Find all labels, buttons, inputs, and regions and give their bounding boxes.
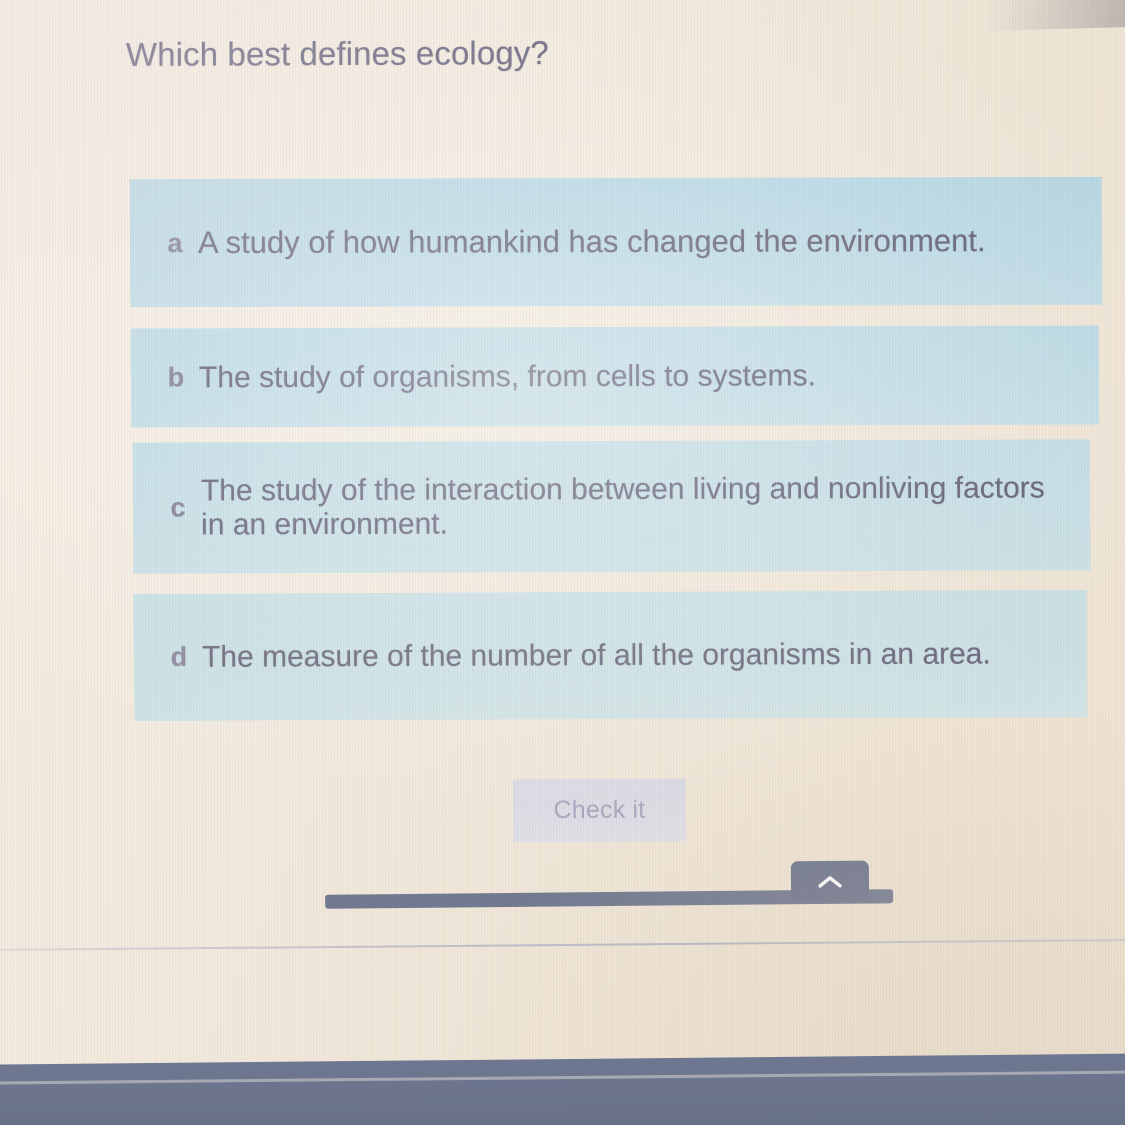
- page-title: Which best defines ecology?: [126, 34, 549, 74]
- answer-option-d[interactable]: d The measure of the number of all the o…: [134, 590, 1088, 721]
- answer-option-a[interactable]: a A study of how humankind has changed t…: [130, 177, 1103, 307]
- quiz-screen: Which best defines ecology? a A study of…: [0, 0, 1125, 1125]
- monitor-bottom-bezel: [0, 1053, 1125, 1125]
- answer-option-c-letter: c: [155, 492, 201, 523]
- answer-option-a-text: A study of how humankind has changed the…: [198, 223, 1102, 260]
- answer-option-b[interactable]: b The study of organisms, from cells to …: [131, 325, 1100, 427]
- check-it-button[interactable]: Check it: [513, 779, 686, 843]
- answer-option-c-text: The study of the interaction between liv…: [201, 471, 1090, 542]
- answer-option-d-text: The measure of the number of all the org…: [202, 637, 1087, 675]
- photographed-screen: Which best defines ecology? a A study of…: [0, 0, 1125, 1125]
- answer-option-b-text: The study of organisms, from cells to sy…: [199, 358, 1099, 395]
- answer-option-c[interactable]: c The study of the interaction between l…: [133, 439, 1091, 573]
- answer-option-b-letter: b: [153, 362, 199, 393]
- answer-option-a-letter: a: [152, 228, 198, 259]
- chevron-up-icon: [817, 873, 843, 889]
- section-divider: [0, 939, 1125, 951]
- expand-toolbar-button[interactable]: [791, 861, 869, 903]
- answer-option-d-letter: d: [156, 642, 202, 673]
- bottom-toolbar: [325, 855, 895, 912]
